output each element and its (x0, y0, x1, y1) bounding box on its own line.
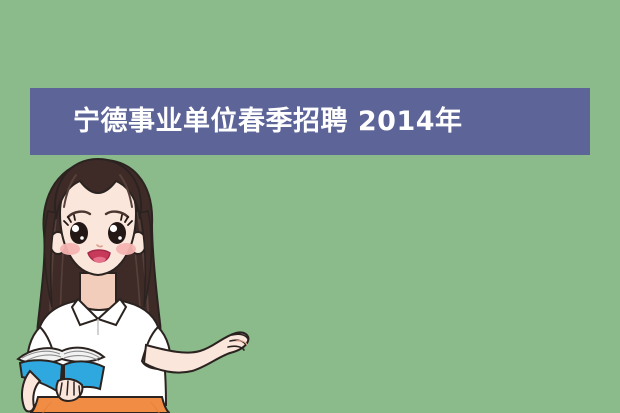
poster-canvas: 宁德事业单位春季招聘 2014年 (0, 0, 620, 413)
page-title: 宁德事业单位春季招聘 2014年 (73, 108, 463, 135)
eye-right-highlight (110, 225, 117, 232)
eye-right (108, 222, 126, 244)
eye-left-highlight-small (80, 236, 84, 240)
eye-left (70, 222, 88, 244)
eye-right-highlight-small (118, 236, 122, 240)
eye-left-highlight (72, 225, 79, 232)
title-banner: 宁德事业单位春季招聘 2014年 (30, 88, 590, 155)
neck (80, 273, 116, 311)
cartoon-girl-illustration (0, 155, 300, 413)
skirt (30, 397, 170, 413)
blush-left (60, 243, 80, 255)
blush-right (116, 243, 136, 255)
